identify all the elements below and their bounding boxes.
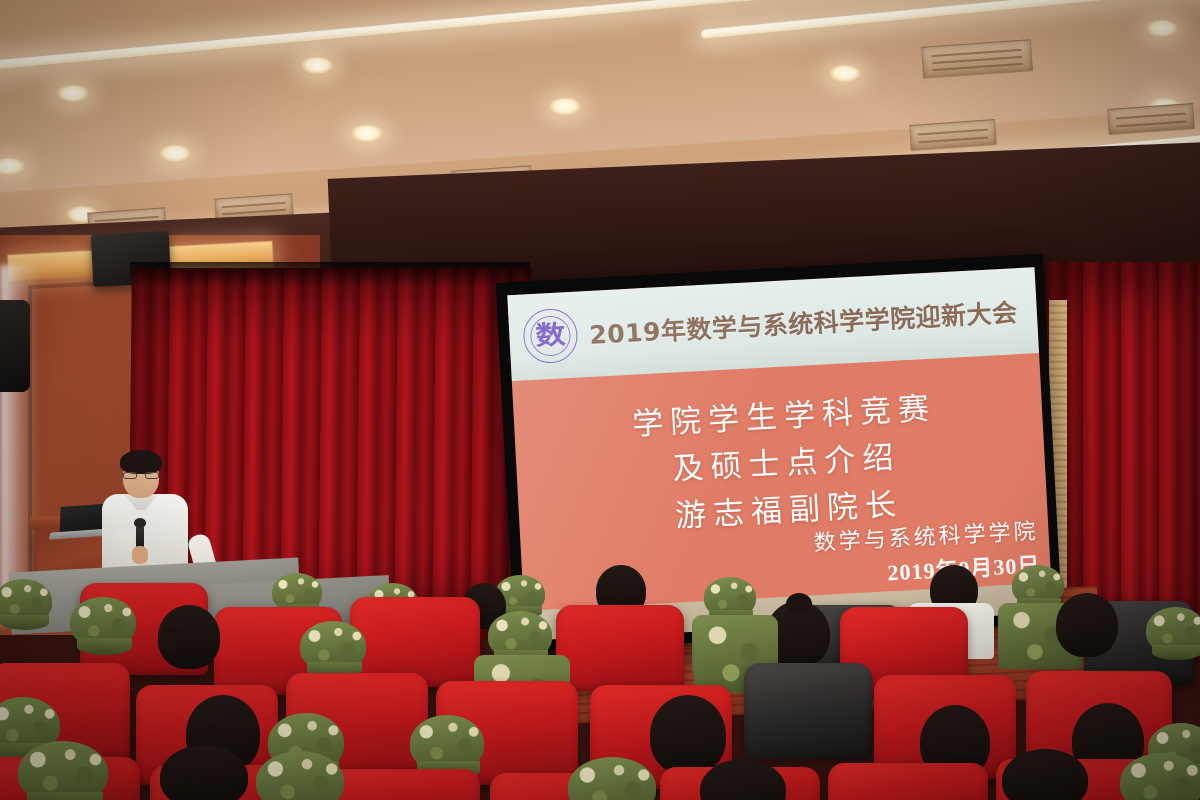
chair [828, 763, 988, 800]
seal-mark: 数 [535, 322, 566, 350]
audience-area [0, 545, 1200, 800]
glasses-icon [123, 472, 159, 479]
camo-cap-icon [0, 579, 52, 623]
camo-cap-icon [1146, 607, 1200, 653]
downlight-icon [1145, 20, 1179, 38]
camo-cap-icon [272, 573, 322, 611]
audience-head [650, 695, 726, 775]
chair [320, 769, 480, 800]
seal-inner-ring: 数 [529, 315, 571, 357]
chair [556, 605, 684, 691]
camo-cap-icon [488, 611, 552, 659]
hair-bun [200, 723, 224, 747]
university-seal-icon: 数 [522, 308, 579, 365]
audience-head [160, 745, 248, 800]
camo-cap-icon [1120, 753, 1200, 800]
hair-bun [158, 627, 182, 651]
hair-bun [786, 593, 812, 615]
auditorium-photo: 数 2019年数学与系统科学学院迎新大会 学院学生学科竞赛 及硕士点介绍 游志福… [0, 0, 1200, 800]
downlight-icon [56, 85, 90, 103]
downlight-icon [158, 145, 192, 163]
side-speaker-icon [0, 300, 30, 392]
camo-cap-icon [1012, 565, 1064, 605]
presenter-hair [120, 450, 162, 474]
camo-cap-icon [18, 741, 108, 800]
camo-cap-icon [70, 597, 136, 647]
downlight-icon [828, 65, 862, 83]
camo-cap-icon [300, 621, 366, 671]
camo-cap-icon [704, 577, 756, 617]
downlight-icon [350, 125, 384, 143]
chair [744, 663, 872, 759]
downlight-icon [300, 57, 334, 75]
camo-cap-icon [410, 715, 484, 771]
slide-title: 2019年数学与系统科学学院迎新大会 [588, 293, 1018, 352]
audience-head [1056, 593, 1118, 657]
downlight-icon [548, 98, 582, 116]
curtain-top-shadow [130, 262, 530, 288]
